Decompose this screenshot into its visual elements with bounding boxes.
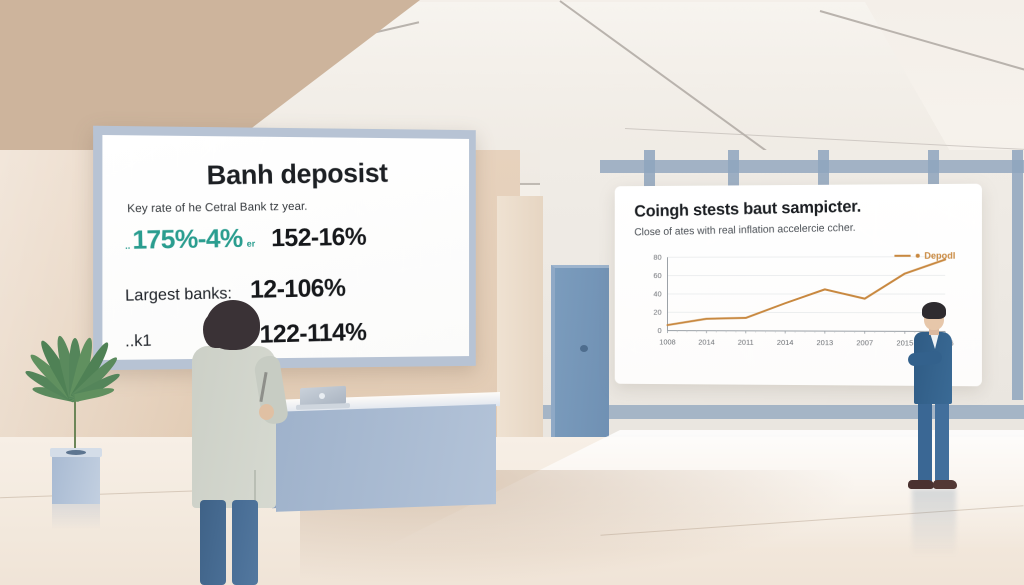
left-screen-title: Banh deposist [143, 157, 448, 192]
person-left-hand [259, 404, 274, 420]
laptop-logo-icon [319, 393, 325, 399]
person-right-reflection [912, 489, 956, 557]
person-right-hair [922, 302, 946, 319]
reception-desk-body [276, 404, 496, 512]
window-header-beam [600, 160, 1024, 173]
person-right-leg-left [918, 400, 932, 486]
plant-pot [52, 452, 100, 504]
left-presentation-screen[interactable]: Banh deposist Key rate of he Cetral Bank… [93, 126, 476, 371]
svg-text:80: 80 [653, 253, 661, 262]
svg-text:2014: 2014 [698, 338, 714, 347]
person-right-suit-torso [914, 332, 952, 404]
deposit-line-chart: Depodl 806040200100820142011201420132007… [634, 249, 961, 360]
svg-text:2007: 2007 [856, 338, 873, 347]
svg-text:40: 40 [653, 290, 661, 299]
third-metric-row: ..k1 tted 122-114% [125, 316, 448, 353]
largest-banks-row: Largest banks: 12-106% [125, 272, 448, 308]
plant-stem [74, 398, 76, 452]
person-left-leg-right [232, 500, 258, 585]
bank-office-scene: Banh deposist Key rate of he Cetral Bank… [0, 0, 1024, 585]
svg-text:2014: 2014 [777, 338, 794, 347]
legend-line-swatch [894, 255, 910, 257]
third-metric-label: ..k1 [125, 332, 152, 351]
legend-dot-icon [915, 254, 919, 258]
person-left-leg-left [200, 500, 226, 585]
largest-banks-label: Largest banks: [125, 285, 232, 306]
plant-pot-reflection [52, 504, 100, 530]
svg-text:2011: 2011 [738, 338, 754, 347]
svg-text:2013: 2013 [816, 338, 833, 347]
key-rate-prefix: .. [125, 241, 130, 251]
wall-baseboard-strip [540, 405, 1024, 419]
legend-label: Depodl [924, 251, 955, 261]
right-board-title: Coingh stests baut sampicter. [634, 195, 962, 221]
key-rate-teal-value: 175%-4% [132, 223, 243, 256]
chart-legend: Depodl [894, 251, 955, 261]
key-rate-dark-value: 152-16% [271, 223, 366, 253]
svg-text:2015: 2015 [896, 338, 913, 347]
person-right-leg-right [935, 400, 949, 486]
person-right-shoe-right [933, 480, 957, 489]
svg-text:0: 0 [658, 326, 662, 335]
chart-svg: 8060402001008201420112014201320072015207… [634, 249, 961, 358]
person-right-shoe-left [908, 480, 934, 489]
left-screen-surface: Banh deposist Key rate of he Cetral Bank… [102, 135, 469, 360]
door[interactable] [551, 265, 609, 463]
svg-text:1008: 1008 [659, 337, 675, 346]
key-rate-suffix: er [247, 239, 256, 249]
window-mullion-5 [1012, 150, 1023, 400]
third-metric-value: 122-114% [259, 318, 366, 350]
plant-pot-soil [66, 450, 86, 455]
largest-banks-value: 12-106% [250, 274, 346, 305]
person-left-hair [206, 300, 260, 350]
left-screen-subtitle: Key rate of he Cetral Bank tz year. [127, 199, 448, 215]
door-knob-icon[interactable] [580, 345, 588, 352]
key-rate-row: .. 175%-4% er 152-16% [125, 220, 448, 256]
svg-text:60: 60 [653, 271, 661, 280]
right-board-subtitle: Close of ates with real inflation accele… [634, 219, 961, 238]
svg-text:20: 20 [653, 308, 661, 317]
